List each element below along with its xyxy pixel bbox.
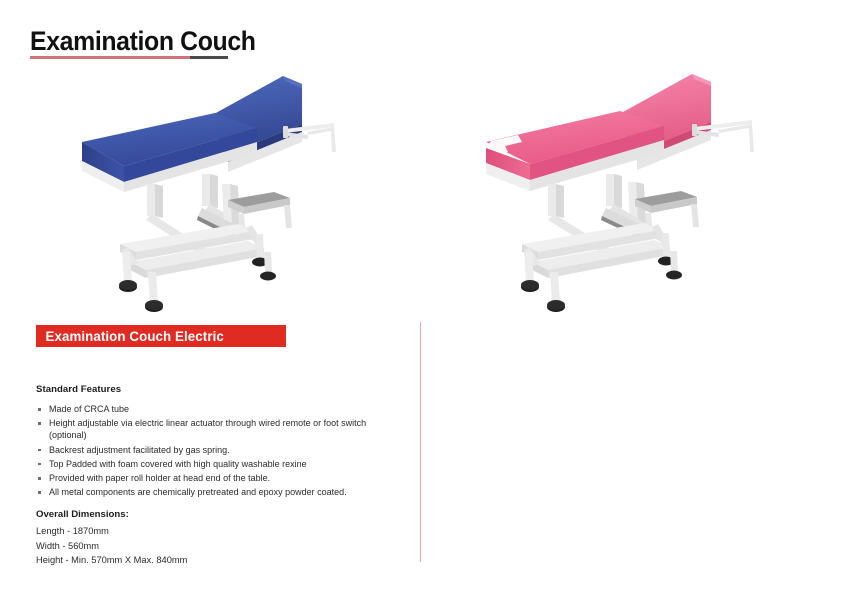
dimensions-heading: Overall Dimensions: bbox=[36, 509, 396, 520]
product-column-examination-couch: Examination Couch Electric Standard Feat… bbox=[0, 0, 420, 594]
feature-item: Provided with paper roll holder at head … bbox=[36, 472, 396, 484]
dimensions-block: Overall Dimensions: Length - 1870mm Widt… bbox=[36, 509, 396, 567]
feature-item: Made of CRCA tube bbox=[36, 403, 396, 415]
feature-item: Top Padded with foam covered with high q… bbox=[36, 458, 396, 470]
product-banner-label: Examination Couch Electric bbox=[36, 328, 224, 344]
dimension-height: Height - Min. 570mm X Max. 840mm bbox=[36, 553, 396, 567]
feature-item: All metal components are chemically pret… bbox=[36, 486, 396, 498]
product-column-gynae-couch: Gynae Examination Couch Electric Standar… bbox=[420, 0, 846, 594]
gynae-examination-couch-pink-photo bbox=[420, 62, 846, 312]
product-banner-examination-couch: Examination Couch Electric bbox=[36, 325, 286, 347]
features-list: Made of CRCA tube Height adjustable via … bbox=[36, 403, 396, 498]
examination-couch-blue-photo bbox=[0, 62, 420, 312]
feature-item: Backrest adjustment facilitated by gas s… bbox=[36, 444, 396, 456]
couch-illustration-pink bbox=[460, 64, 780, 312]
catalog-page: Examination Couch bbox=[0, 0, 846, 594]
dimension-length: Length - 1870mm bbox=[36, 524, 396, 538]
couch-illustration-blue bbox=[52, 66, 362, 312]
features-heading: Standard Features bbox=[36, 384, 396, 395]
feature-item: Height adjustable via electric linear ac… bbox=[36, 417, 396, 441]
product-specs-examination-couch: Standard Features Made of CRCA tube Heig… bbox=[36, 384, 396, 567]
dimension-width: Width - 560mm bbox=[36, 539, 396, 553]
